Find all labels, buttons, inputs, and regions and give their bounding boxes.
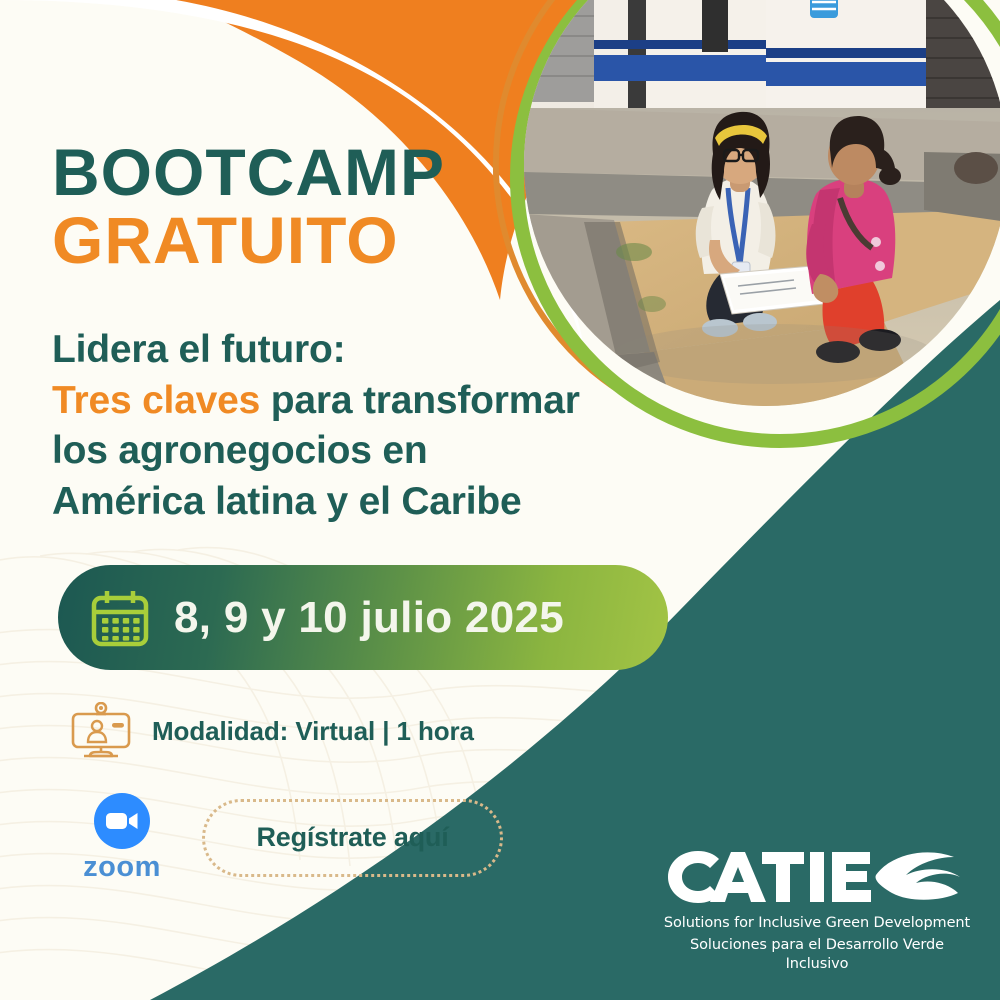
zoom-wordmark: zoom: [83, 853, 161, 882]
modality-row: Modalidad: Virtual | 1 hora: [70, 702, 474, 760]
headline-bootcamp: BOOTCAMP: [52, 140, 445, 205]
catie-tagline-en: Solutions for Inclusive Green Developmen…: [662, 914, 972, 934]
video-monitor-icon: [70, 702, 132, 760]
subtitle-accent: Tres claves: [52, 379, 260, 422]
zoom-logo: zoom: [66, 793, 178, 882]
catie-wordmark-icon: [662, 845, 972, 907]
promotional-flyer: BOOTCAMP GRATUITO Lidera el futuro: Tres…: [0, 0, 1000, 1000]
subtitle-line-2-rest: para transformar: [260, 379, 580, 422]
date-banner: 8, 9 y 10 julio 2025: [58, 565, 668, 670]
subtitle-line-3: los agronegocios en: [52, 426, 742, 477]
catie-tagline-es: Soluciones para el Desarrollo Verde Incl…: [662, 936, 972, 975]
headline-gratuito: GRATUITO: [52, 207, 445, 273]
modality-text: Modalidad: Virtual | 1 hora: [152, 716, 474, 747]
headline: BOOTCAMP GRATUITO: [52, 140, 445, 273]
subtitle-line-2: Tres claves para transformar: [52, 376, 742, 427]
register-button[interactable]: Regístrate aquí: [202, 799, 503, 877]
register-button-label: Regístrate aquí: [256, 822, 448, 853]
subtitle-line-4: América latina y el Caribe: [52, 477, 742, 528]
subtitle-block: Lidera el futuro: Tres claves para trans…: [52, 325, 742, 528]
calendar-icon: [88, 586, 152, 650]
catie-logo: Solutions for Inclusive Green Developmen…: [662, 845, 972, 975]
platform-and-cta-row: zoom Regístrate aquí: [66, 793, 503, 882]
date-text: 8, 9 y 10 julio 2025: [174, 593, 564, 643]
zoom-camera-icon: [94, 793, 150, 849]
subtitle-line-1: Lidera el futuro:: [52, 325, 742, 376]
